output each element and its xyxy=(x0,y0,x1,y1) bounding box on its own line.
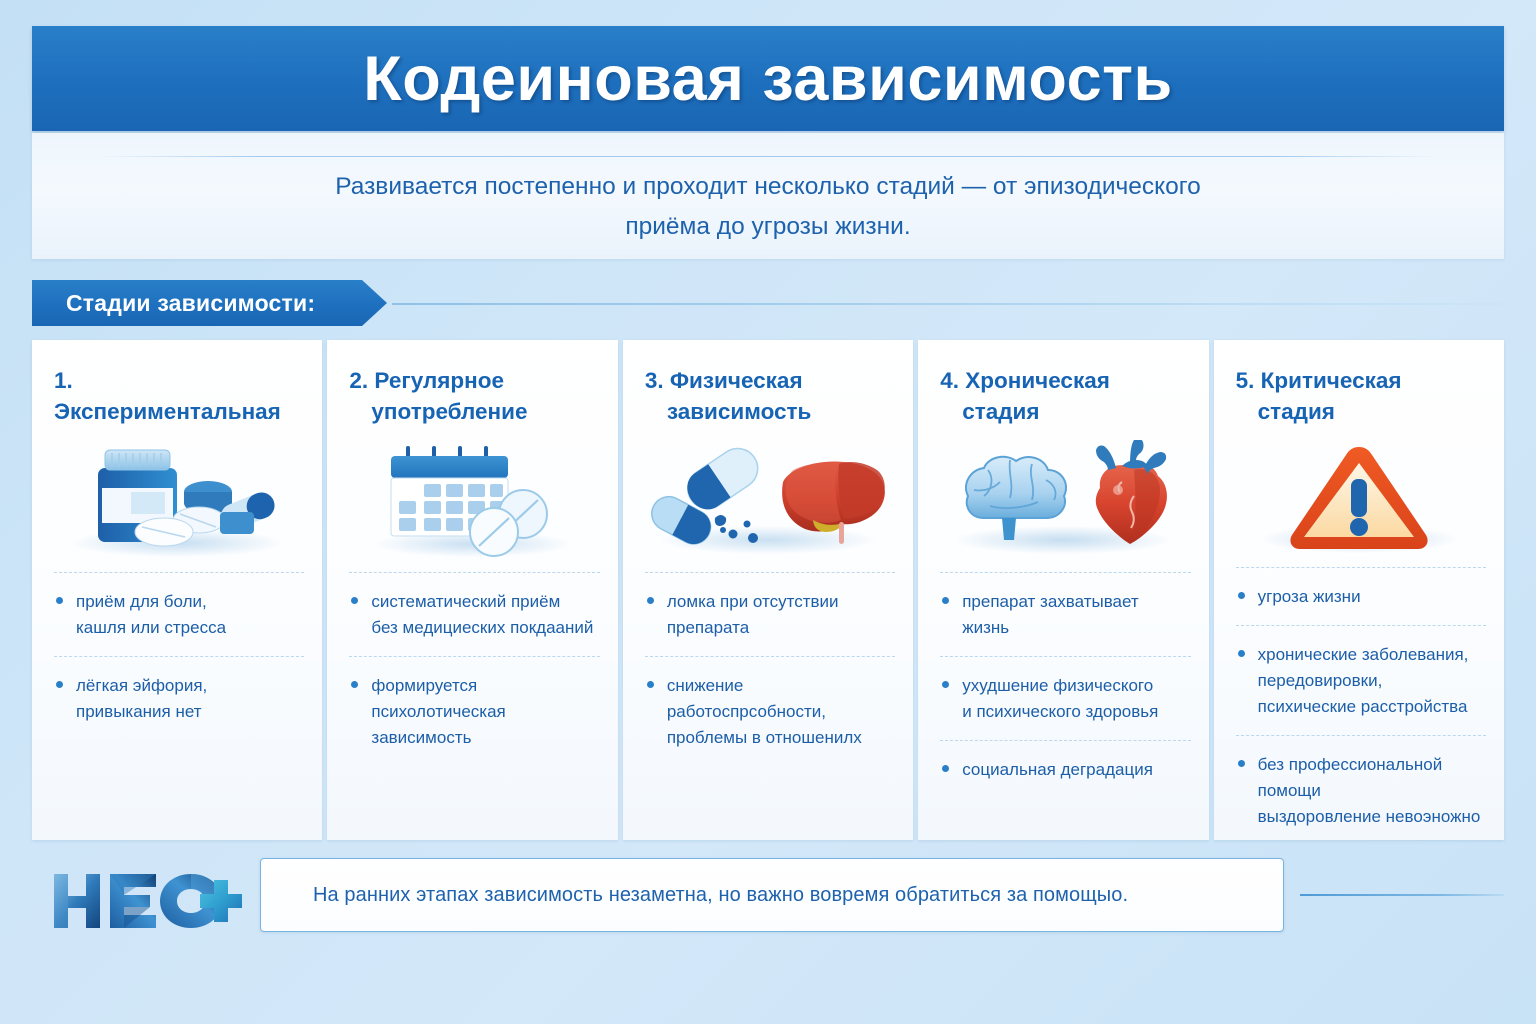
bullet-sub: и психического здоровья xyxy=(940,699,1190,725)
bullet-sub: работоспрсобности, проблемы в отношенилх xyxy=(645,699,895,751)
bullet-main: приём для боли, xyxy=(54,589,304,615)
subtitle-band: Развивается постепенно и проходит нескол… xyxy=(32,133,1504,259)
bullet-main: препарат захватывает xyxy=(940,589,1190,615)
bullet-main: снижение xyxy=(645,673,895,699)
list-item: формируется психолотическая зависимость xyxy=(349,656,599,766)
list-item: препарат захватывает жизнь xyxy=(940,572,1190,656)
subtitle-text: Развивается постепенно и проходит нескол… xyxy=(32,167,1504,247)
list-item: угроза жизни xyxy=(1236,567,1486,625)
subtitle-line-1: Развивается постепенно и проходит нескол… xyxy=(32,167,1504,207)
bullet-sub: кашля или стресса xyxy=(54,615,304,641)
bullet-sub: препарата xyxy=(645,615,895,641)
bullet-dot-icon xyxy=(1238,650,1245,657)
brand-logo-icon[interactable] xyxy=(46,866,246,936)
stage-card-2[interactable]: 2. Регулярное употребление xyxy=(327,340,617,840)
bullet-dot-icon xyxy=(56,681,63,688)
header-band: Кодеиновая зависимость xyxy=(32,26,1504,131)
warning-triangle-icon xyxy=(1214,437,1504,557)
stage-card-5-title-line-1: 5. Критическая xyxy=(1236,368,1402,393)
stage-card-4-bullets: препарат захватывает жизнь ухудшение физ… xyxy=(918,572,1208,798)
bullet-dot-icon xyxy=(1238,592,1245,599)
stage-card-4-title: 4. Хроническая стадия xyxy=(918,340,1208,435)
stage-card-3-title-line-2: зависимость xyxy=(645,396,893,427)
stage-card-5-title-line-2: стадия xyxy=(1236,396,1484,427)
stage-card-3[interactable]: 3. Физическая зависимость xyxy=(623,340,913,840)
infographic-page: Кодеиновая зависимость Развивается посте… xyxy=(0,0,1536,1024)
stage-card-3-title-line-1: 3. Физическая xyxy=(645,368,803,393)
bullet-sub: передовировки, психические расстройства xyxy=(1236,668,1486,720)
capsule-liver-icon xyxy=(623,437,913,562)
bullet-dot-icon xyxy=(647,681,654,688)
list-item: ломка при отсутствии препарата xyxy=(645,572,895,656)
footer-note-box: На ранних этапах зависимость незаметна, … xyxy=(260,858,1284,932)
stage-card-5-title: 5. Критическая стадия xyxy=(1214,340,1504,435)
bullet-sub: выздоровление невоэножно xyxy=(1236,804,1486,830)
stage-card-3-title: 3. Физическая зависимость xyxy=(623,340,913,435)
bullet-dot-icon xyxy=(1238,760,1245,767)
list-item: приём для боли, кашля или стресса xyxy=(54,572,304,656)
stage-card-2-title: 2. Регулярное употребление xyxy=(327,340,617,435)
stage-card-1[interactable]: 1. Экспериментальная xyxy=(32,340,322,840)
footer-note-text: На ранних этапах зависимость незаметна, … xyxy=(261,884,1128,907)
brain-heart-icon xyxy=(918,437,1208,562)
stage-card-1-title: 1. Экспериментальная xyxy=(32,340,322,435)
bullet-main: социальная деградация xyxy=(940,757,1190,783)
bullet-main: без профессиональной помощи xyxy=(1236,752,1486,804)
list-item: социальная деградация xyxy=(940,740,1190,798)
list-item: ухудшение физического и психического здо… xyxy=(940,656,1190,740)
list-item: снижение работоспрсобности, проблемы в о… xyxy=(645,656,895,766)
list-item: без профессиональной помощи выздоровлени… xyxy=(1236,735,1486,845)
subtitle-divider xyxy=(98,156,1438,157)
footer: На ранних этапах зависимость незаметна, … xyxy=(0,848,1536,958)
subtitle-line-2: приёма до угрозы жизни. xyxy=(32,207,1504,247)
bullet-sub: психолотическая зависимость xyxy=(349,699,599,751)
stage-card-4-title-line-2: стадия xyxy=(940,396,1188,427)
stage-card-2-title-line-1: 2. Регулярное xyxy=(349,368,504,393)
bullet-main: хронические заболевания, xyxy=(1236,642,1486,668)
calendar-pills-icon xyxy=(327,437,617,562)
bullet-main: формируется xyxy=(349,673,599,699)
stage-card-row: 1. Экспериментальная xyxy=(32,340,1504,840)
ribbon-shape: Стадии зависимости: xyxy=(32,280,387,326)
bullet-dot-icon xyxy=(647,597,654,604)
bullet-main: лёгкая эйфория, xyxy=(54,673,304,699)
bullet-sub: привыкания нет xyxy=(54,699,304,725)
stage-card-4-title-line-1: 4. Хроническая xyxy=(940,368,1110,393)
list-item: лёгкая эйфория, привыкания нет xyxy=(54,656,304,740)
bullet-sub: жизнь xyxy=(940,615,1190,641)
bullet-dot-icon xyxy=(56,597,63,604)
list-item: систематический приём без медициеских по… xyxy=(349,572,599,656)
bullet-main: ломка при отсутствии xyxy=(645,589,895,615)
stage-card-5-bullets: угроза жизни хронические заболевания, пе… xyxy=(1214,567,1504,845)
stage-card-4[interactable]: 4. Хроническая стадия xyxy=(918,340,1208,840)
ribbon-label: Стадии зависимости: xyxy=(32,290,315,317)
stage-card-3-bullets: ломка при отсутствии препарата снижение … xyxy=(623,572,913,766)
stage-card-2-title-line-2: употребление xyxy=(349,396,597,427)
ribbon-divider xyxy=(392,303,1502,305)
bullet-main: ухудшение физического xyxy=(940,673,1190,699)
bullet-main: угроза жизни xyxy=(1236,584,1486,610)
footer-divider xyxy=(1300,894,1504,896)
list-item: хронические заболевания, передовировки, … xyxy=(1236,625,1486,735)
stage-card-1-title-line-1: 1. Экспериментальная xyxy=(54,368,281,424)
bullet-main: систематический приём xyxy=(349,589,599,615)
page-title: Кодеиновая зависимость xyxy=(32,26,1504,131)
stage-card-2-bullets: систематический приём без медициеских по… xyxy=(327,572,617,766)
bullet-sub: без медициеских покдааний xyxy=(349,615,599,641)
pill-bottle-tablets-icon xyxy=(32,437,322,562)
stage-card-1-bullets: приём для боли, кашля или стресса лёгкая… xyxy=(32,572,322,740)
section-ribbon: Стадии зависимости: xyxy=(32,280,1504,326)
stage-card-5[interactable]: 5. Критическая стадия xyxy=(1214,340,1504,840)
